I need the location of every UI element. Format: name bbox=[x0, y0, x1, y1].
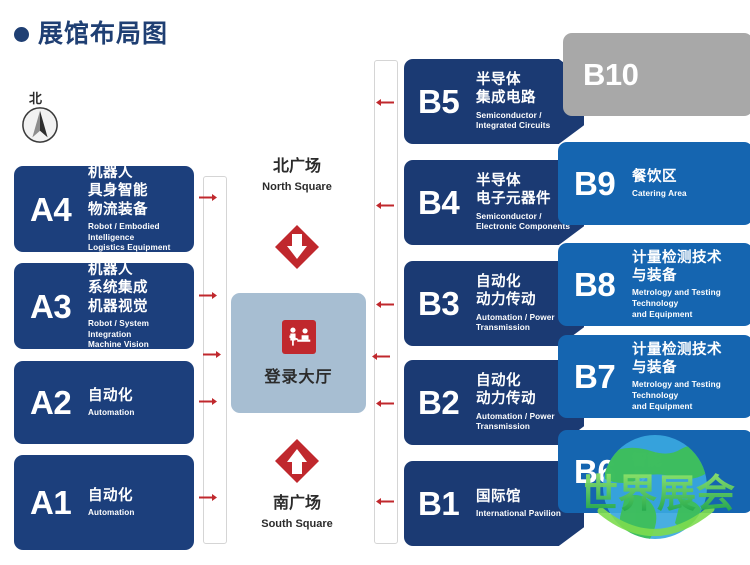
hall-name-cn: 餐饮区 bbox=[632, 168, 687, 186]
registration-hall[interactable]: 登录大厅 bbox=[231, 293, 366, 413]
title-text: 展馆布局图 bbox=[38, 22, 168, 47]
south-square-label: 南广场 South Square bbox=[222, 494, 372, 532]
arrow-up-diamond-icon bbox=[274, 438, 320, 484]
hall-code: B3 bbox=[418, 287, 474, 320]
north-square-label: 北广场 North Square bbox=[222, 157, 372, 195]
hall-b2[interactable]: B2 自动化 动力传动 Automation / Power Transmiss… bbox=[404, 360, 584, 445]
hall-b9[interactable]: B9 餐饮区 Catering Area bbox=[558, 142, 750, 225]
registration-hall-label: 登录大厅 bbox=[264, 363, 332, 387]
hall-b1[interactable]: B1 国际馆 International Pavilion bbox=[404, 461, 584, 546]
south-square-en: South Square bbox=[222, 517, 372, 532]
hall-code: B6 bbox=[574, 455, 630, 488]
hall-a4[interactable]: A4 机器人 具身智能 物流装备 Robot / Embodied Intell… bbox=[14, 166, 194, 252]
compass: 北 bbox=[17, 88, 69, 144]
connector-a2-icon bbox=[199, 397, 217, 406]
north-square-en: North Square bbox=[222, 180, 372, 195]
hall-code: B8 bbox=[574, 268, 630, 301]
hall-a1[interactable]: A1 自动化 Automation bbox=[14, 455, 194, 550]
hall-name-en: Automation bbox=[88, 408, 134, 419]
hall-code: B1 bbox=[418, 487, 474, 520]
compass-label: 北 bbox=[29, 88, 42, 107]
hall-name-cn: 机器人 系统集成 机器视觉 bbox=[88, 261, 194, 316]
hall-name-en: Robot / Embodied Intelligence Logistics … bbox=[88, 222, 194, 254]
connector-b4-icon bbox=[376, 201, 394, 210]
hall-b4[interactable]: B4 半导体 电子元器件 Semiconductor / Electronic … bbox=[404, 160, 584, 245]
hall-name-cn: 智能 传 bbox=[632, 452, 662, 489]
hall-name-cn: 计量检测技术 与装备 bbox=[632, 341, 750, 378]
south-square-cn: 南广场 bbox=[222, 494, 372, 515]
hall-b3[interactable]: B3 自动化 动力传动 Automation / Power Transmiss… bbox=[404, 261, 584, 346]
hall-name-cn: 自动化 bbox=[88, 387, 134, 405]
registration-desk-icon bbox=[282, 320, 316, 354]
title-bullet-icon bbox=[14, 27, 29, 42]
hall-name-cn: 国际馆 bbox=[476, 488, 561, 506]
connector-b2-icon bbox=[376, 399, 394, 408]
hall-b6[interactable]: B6 智能 传 bbox=[558, 430, 750, 513]
hall-name-en: Catering Area bbox=[632, 189, 687, 200]
hall-name-en: Metrology and Testing Technology and Equ… bbox=[632, 380, 750, 412]
hall-name-en: International Pavilion bbox=[476, 509, 561, 520]
page-title: 展馆布局图 bbox=[14, 22, 168, 47]
hall-name-cn: 自动化 bbox=[88, 487, 134, 505]
connector-a4-icon bbox=[199, 193, 217, 202]
hall-name-cn: 机器人 具身智能 物流装备 bbox=[88, 164, 194, 219]
hall-name-en: Metrology and Testing Technology and Equ… bbox=[632, 288, 750, 320]
hall-name-en: Robot / System Integration Machine Visio… bbox=[88, 319, 194, 351]
hall-a2[interactable]: A2 自动化 Automation bbox=[14, 361, 194, 444]
hall-code: B7 bbox=[574, 360, 630, 393]
connector-lobby-right-icon bbox=[372, 352, 390, 361]
hall-code: B4 bbox=[418, 186, 474, 219]
hall-name-en: Automation bbox=[88, 508, 134, 519]
hall-code: A2 bbox=[30, 386, 86, 419]
connector-lobby-left-icon bbox=[203, 350, 221, 359]
hall-code: A3 bbox=[30, 290, 86, 323]
hall-name-cn: 计量检测技术 与装备 bbox=[632, 249, 750, 286]
compass-north-arrow-icon bbox=[21, 106, 59, 144]
corridor-left bbox=[203, 176, 227, 544]
connector-b5-icon bbox=[376, 98, 394, 107]
hall-code: A4 bbox=[30, 193, 86, 226]
hall-code: B5 bbox=[418, 85, 474, 118]
hall-a3[interactable]: A3 机器人 系统集成 机器视觉 Robot / System Integrat… bbox=[14, 263, 194, 349]
north-square-cn: 北广场 bbox=[222, 157, 372, 178]
connector-b1-icon bbox=[376, 497, 394, 506]
hall-code: B10 bbox=[583, 59, 661, 90]
arrow-down-diamond-icon bbox=[274, 224, 320, 270]
hall-b10[interactable]: B10 bbox=[563, 33, 750, 116]
connector-a1-icon bbox=[199, 493, 217, 502]
hall-code: B2 bbox=[418, 386, 474, 419]
exhibition-map: 展馆布局图 北 A4 机器人 具身智能 物流装备 Robot / Embodie… bbox=[0, 0, 750, 565]
hall-code: B9 bbox=[574, 167, 630, 200]
connector-a3-icon bbox=[199, 291, 217, 300]
hall-b7[interactable]: B7 计量检测技术 与装备 Metrology and Testing Tech… bbox=[558, 335, 750, 418]
hall-b8[interactable]: B8 计量检测技术 与装备 Metrology and Testing Tech… bbox=[558, 243, 750, 326]
hall-b5[interactable]: B5 半导体 集成电路 Semiconductor / Integrated C… bbox=[404, 59, 584, 144]
hall-code: A1 bbox=[30, 486, 86, 519]
connector-b3-icon bbox=[376, 300, 394, 309]
